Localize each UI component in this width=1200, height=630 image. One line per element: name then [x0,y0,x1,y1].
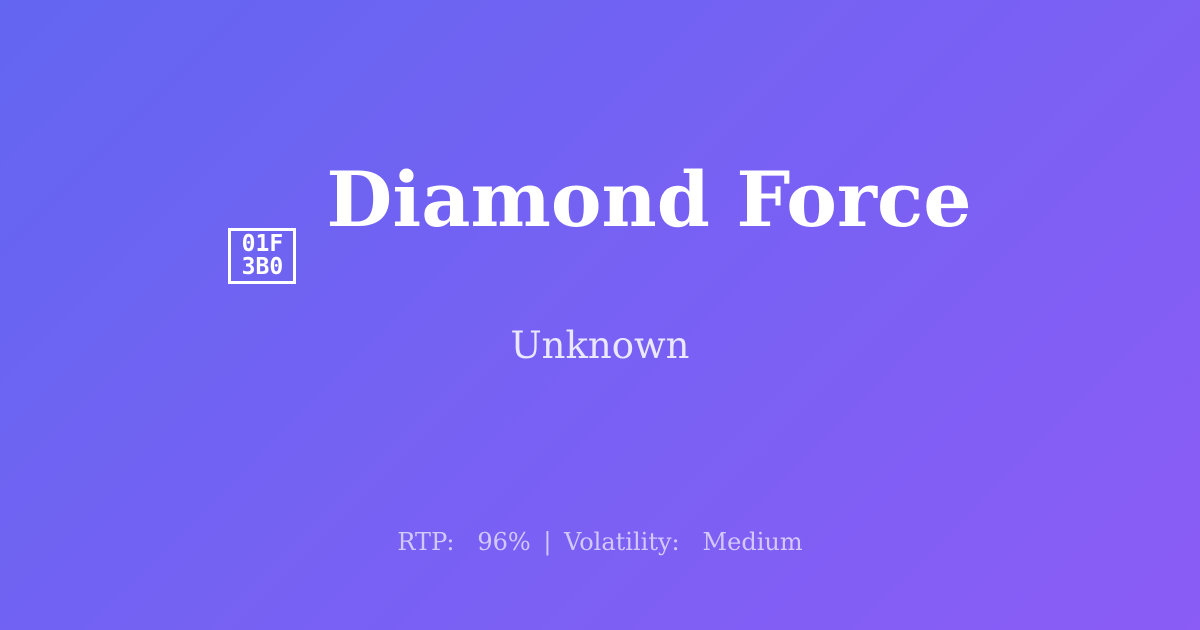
volatility-value: Medium [703,528,803,556]
game-hero-card: 01F 3B0 Diamond Force Unknown RTP: 96% |… [0,0,1200,630]
slot-machine-icon-codepoint-high: 01F [242,233,284,256]
game-stats-line: RTP: 96% | Volatility: Medium [0,529,1200,555]
title-row: 01F 3B0 Diamond Force [228,108,971,286]
hero-section: 01F 3B0 Diamond Force Unknown [0,0,1200,480]
game-provider-subtitle: Unknown [510,327,689,364]
volatility-label: Volatility: [564,528,680,556]
slot-machine-icon: 01F 3B0 [228,228,296,284]
slot-machine-icon-codepoint-low: 3B0 [242,256,284,279]
game-title: Diamond Force [326,162,971,238]
rtp-label: RTP: [397,528,454,556]
stats-separator: | [538,528,556,556]
rtp-value: 96% [477,528,530,556]
